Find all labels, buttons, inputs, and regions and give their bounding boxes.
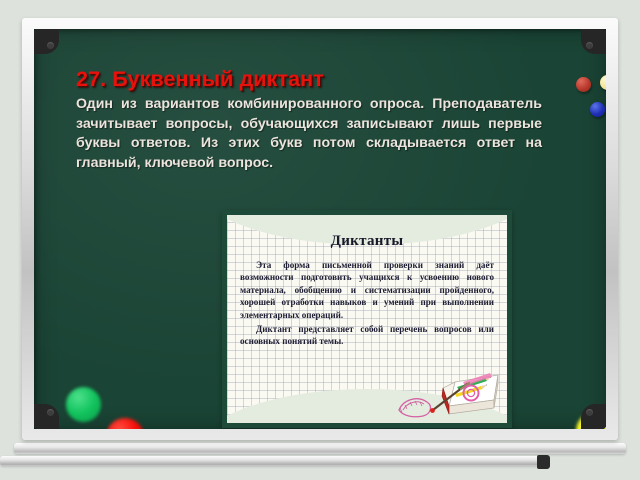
graph-paper-background: Диктанты Эта форма письменной проверки з… [227, 215, 507, 423]
slide-canvas: 27. Буквенный диктант Один из вариантов … [0, 0, 640, 480]
board-corner-bottom-right-icon [581, 404, 606, 429]
magnet-blue-icon [590, 102, 605, 117]
marker-tray-lower-rail [0, 456, 545, 466]
slide-body-text: Один из вариантов комбинированного опрос… [76, 95, 542, 173]
marker-tray-end-clip [537, 455, 550, 469]
whiteboard-frame: 27. Буквенный диктант Один из вариантов … [22, 18, 618, 440]
open-book-stationery-icon [397, 358, 501, 420]
picture-paragraph-1: Эта форма письменной проверки знаний даё… [240, 259, 494, 321]
slide-content: 27. Буквенный диктант Один из вариантов … [76, 67, 542, 173]
magnet-green-icon [66, 387, 101, 422]
picture-paragraph-2: Диктант представляет собой перечень вопр… [240, 323, 494, 348]
magnet-red-icon [106, 418, 144, 429]
marker-tray-upper-rail [14, 443, 626, 454]
magnet-cream-icon [600, 75, 606, 90]
board-corner-top-right-icon [581, 29, 606, 54]
picture-heading: Диктанты [227, 233, 507, 250]
board-corner-bottom-left-icon [34, 404, 59, 429]
whiteboard-surface: 27. Буквенный диктант Один из вариантов … [34, 29, 606, 429]
slide-title: 27. Буквенный диктант [76, 67, 542, 92]
board-corner-top-left-icon [34, 29, 59, 54]
embedded-picture: Диктанты Эта форма письменной проверки з… [222, 210, 512, 428]
magnet-dark-red-icon [576, 77, 591, 92]
